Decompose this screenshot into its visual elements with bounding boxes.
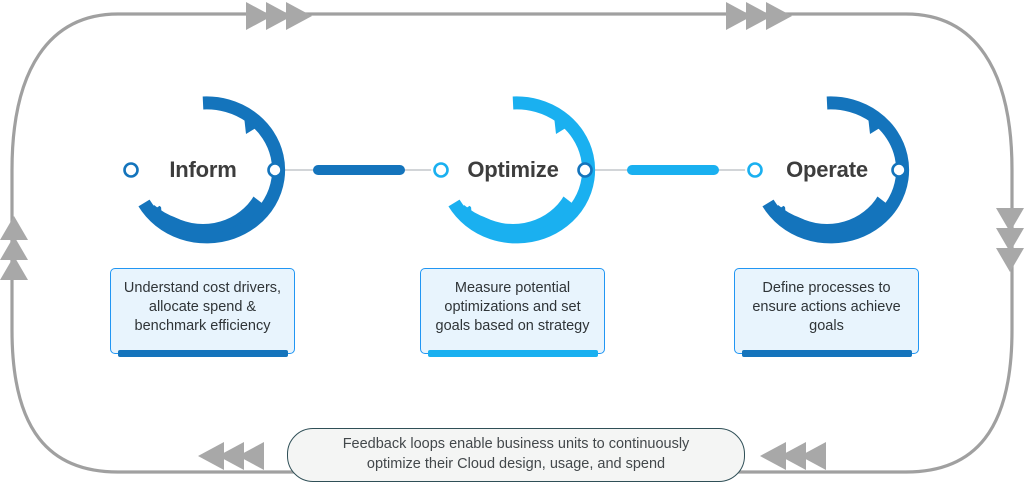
operate-label: Operate [742,90,912,250]
operate-accent-bar [742,350,912,357]
operate-caption: Define processes to ensure actions achie… [734,268,919,354]
node-operate[interactable]: Operate Define processes to ensure actio… [727,90,927,354]
optimize-label: Optimize [428,90,598,250]
bottom-left-arrows [198,442,264,470]
optimize-caption-text: Measure potential optimizations and set … [436,280,590,334]
inform-accent-bar [118,350,288,357]
node-inform[interactable]: Inform Understand cost drivers, allocate… [103,90,303,354]
bottom-right-arrows [760,442,826,470]
left-arrows [0,216,28,280]
operate-caption-text: Define processes to ensure actions achie… [752,280,900,334]
top-right-arrows [726,2,792,30]
feedback-line-1: Feedback loops enable business units to … [343,435,690,455]
node-optimize[interactable]: Optimize Measure potential optimizations… [413,90,613,354]
connector-bar [627,165,720,175]
inform-circle[interactable]: Inform [118,90,288,250]
right-arrows [996,208,1024,272]
optimize-accent-bar [428,350,598,357]
inform-label: Inform [118,90,288,250]
operate-circle[interactable]: Operate [742,90,912,250]
optimize-circle[interactable]: Optimize [428,90,598,250]
diagram-canvas: Inform Understand cost drivers, allocate… [0,0,1024,488]
connector-bar [313,165,406,175]
feedback-loop-pill: Feedback loops enable business units to … [287,428,745,482]
inform-caption: Understand cost drivers, allocate spend … [110,268,295,354]
top-left-arrows [246,2,312,30]
feedback-line-2: optimize their Cloud design, usage, and … [343,455,690,475]
inform-caption-text: Understand cost drivers, allocate spend … [124,280,281,334]
optimize-caption: Measure potential optimizations and set … [420,268,605,354]
